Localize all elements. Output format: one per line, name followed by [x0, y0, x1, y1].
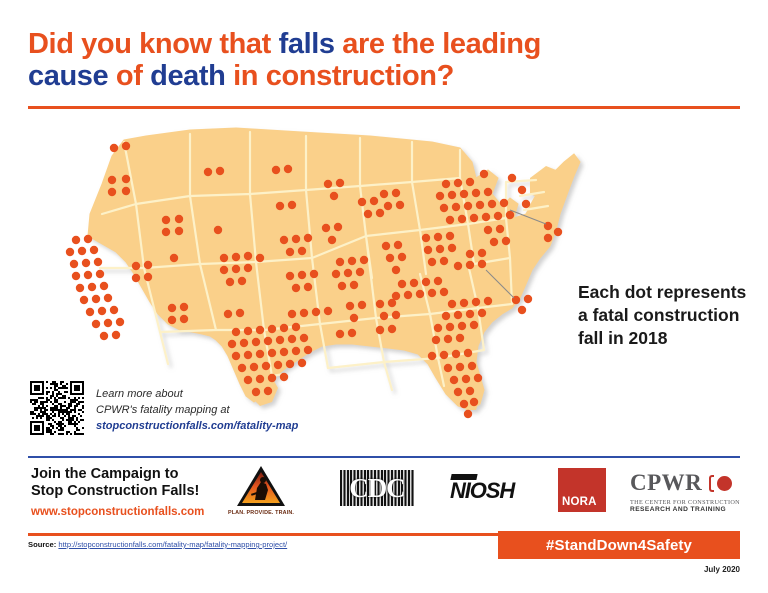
- cpwr-bracket-dot-icon: [709, 475, 732, 492]
- learn-more-block: Learn more about CPWR's fatality mapping…: [96, 387, 326, 435]
- hashtag-banner: #StandDown4Safety: [498, 531, 740, 559]
- osha-triangle-icon: [235, 464, 287, 508]
- source-label: Source:: [28, 540, 56, 549]
- headline-seg-3: are the leading: [335, 28, 541, 60]
- osha-logo: PLAN. PROVIDE. TRAIN.: [226, 464, 296, 516]
- date-stamp: July 2020: [660, 565, 740, 574]
- map-legend-caption: Each dot represents a fatal construction…: [578, 281, 750, 349]
- nora-logo: NORA: [558, 468, 606, 512]
- campaign-title-line-2: Stop Construction Falls!: [31, 483, 199, 499]
- nora-logo-text: NORA: [562, 496, 597, 508]
- niosh-bar-icon: [450, 474, 477, 480]
- page-title: Did you know that falls are the leading …: [28, 28, 728, 93]
- headline-seg-6: death: [150, 60, 225, 92]
- learn-more-line-2: CPWR's fatality mapping at: [96, 404, 230, 416]
- infographic-poster: Did you know that falls are the leading …: [0, 0, 768, 593]
- cpwr-dot: [717, 476, 732, 491]
- learn-more-line-1: Learn more about: [96, 388, 183, 400]
- source-url-link[interactable]: http://stopconstructionfalls.com/fatalit…: [58, 540, 287, 549]
- headline-seg-1: Did you know that: [28, 28, 279, 60]
- headline-line-1: Did you know that falls are the leading: [28, 28, 728, 60]
- hashtag-text: #StandDown4Safety: [546, 537, 692, 554]
- cdc-logo-text: CDC: [340, 470, 414, 506]
- cdc-logo-box: CDC: [340, 470, 414, 506]
- map-landmass: [88, 128, 580, 410]
- cpwr-wordmark: CPWR: [630, 470, 702, 496]
- headline-seg-2: falls: [279, 28, 335, 60]
- nora-logo-box: NORA: [558, 468, 606, 512]
- headline-seg-7: in construction?: [225, 60, 453, 92]
- cpwr-subtitle-2: RESEARCH AND TRAINING: [630, 506, 760, 513]
- niosh-logo: NIOSH: [450, 478, 514, 504]
- cpwr-subtitle-1: THE CENTER FOR CONSTRUCTION: [630, 499, 760, 506]
- qr-code-canvas[interactable]: [30, 381, 84, 435]
- partner-logos: PLAN. PROVIDE. TRAIN. CDC NIOSH NORA CPW…: [218, 462, 743, 524]
- footer-divider: [28, 533, 498, 536]
- qr-code[interactable]: [30, 381, 84, 435]
- cpwr-wordmark-row: CPWR: [630, 470, 760, 496]
- header-divider: [28, 106, 740, 109]
- fatality-map-link[interactable]: stopconstructionfalls.com/fatality-map: [96, 419, 326, 435]
- campaign-divider: [28, 456, 740, 458]
- niosh-logo-text: NIOSH: [450, 478, 514, 504]
- campaign-url-link[interactable]: www.stopconstructionfalls.com: [31, 506, 231, 518]
- cdc-logo: CDC: [340, 470, 414, 506]
- campaign-title-line-1: Join the Campaign to: [31, 466, 178, 482]
- niosh-wordmark: NIOSH: [450, 478, 514, 503]
- campaign-block: Join the Campaign to Stop Construction F…: [31, 466, 231, 518]
- cpwr-logo: CPWR THE CENTER FOR CONSTRUCTION RESEARC…: [630, 470, 760, 513]
- headline-line-2: cause of death in construction?: [28, 60, 728, 92]
- cpwr-bracket: [709, 475, 714, 492]
- campaign-title: Join the Campaign to Stop Construction F…: [31, 466, 231, 501]
- source-line: Source: http://stopconstructionfalls.com…: [28, 540, 287, 549]
- headline-seg-4: cause: [28, 60, 108, 92]
- headline-seg-5: of: [108, 60, 150, 92]
- osha-tagline: PLAN. PROVIDE. TRAIN.: [226, 510, 296, 516]
